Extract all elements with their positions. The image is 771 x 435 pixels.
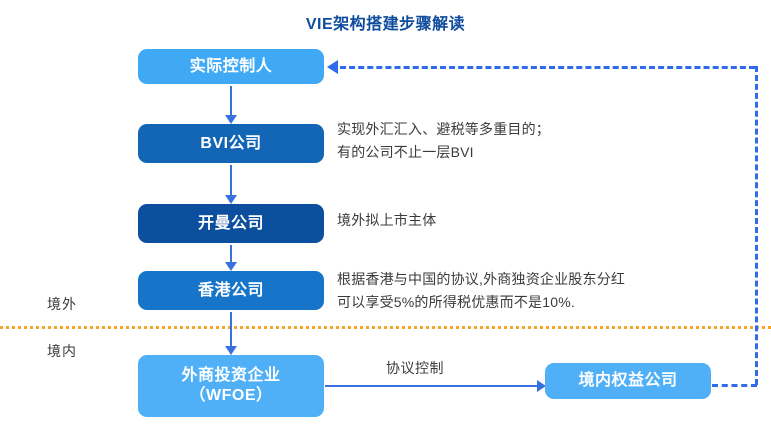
node-hongkong-company-label: 香港公司: [198, 281, 264, 301]
edge-label-agreement-control: 协议控制: [386, 358, 444, 378]
arrow-wfoe-to-domestic: [325, 385, 537, 387]
annotation-cayman: 境外拟上市主体: [337, 209, 436, 232]
region-label-offshore: 境外: [47, 294, 77, 314]
node-cayman-company[interactable]: 开曼公司: [138, 204, 324, 243]
arrow-controller-to-bvi: [230, 86, 232, 116]
annotation-hongkong-line1: 根据香港与中国的协议,外商独资企业股东分红: [337, 268, 625, 291]
node-wfoe[interactable]: 外商投资企业 （WFOE）: [138, 355, 324, 417]
annotation-hongkong-line2: 可以享受5%的所得税优惠而不是10%.: [337, 291, 625, 314]
node-actual-controller-label: 实际控制人: [190, 57, 273, 77]
arrow-bvi-to-cayman: [230, 165, 232, 196]
annotation-cayman-line1: 境外拟上市主体: [337, 209, 436, 232]
vie-structure-diagram: VIE架构搭建步骤解读 境外 境内 协议控制 实际控制人 BVI公司 开曼公司 …: [0, 0, 771, 435]
offshore-onshore-divider: [0, 326, 771, 329]
dashed-path-right: [755, 66, 758, 385]
arrow-hk-to-wfoe: [230, 312, 232, 347]
page-title: VIE架构搭建步骤解读: [0, 10, 771, 34]
dashed-path-bottom: [712, 384, 757, 387]
annotation-bvi: 实现外汇汇入、避税等多重目的； 有的公司不止一层BVI: [337, 118, 550, 164]
node-cayman-company-label: 开曼公司: [198, 214, 264, 234]
annotation-hongkong: 根据香港与中国的协议,外商独资企业股东分红 可以享受5%的所得税优惠而不是10%…: [337, 268, 625, 314]
node-domestic-equity-company[interactable]: 境内权益公司: [545, 363, 711, 399]
dashed-path-arrowhead-icon: [327, 60, 338, 74]
node-domestic-equity-company-label: 境内权益公司: [578, 371, 677, 391]
node-wfoe-label-line1: 外商投资企业: [181, 366, 280, 386]
dashed-path-top: [340, 66, 755, 69]
annotation-bvi-line2: 有的公司不止一层BVI: [337, 141, 550, 164]
annotation-bvi-line1: 实现外汇汇入、避税等多重目的；: [337, 118, 550, 141]
node-bvi-company-label: BVI公司: [200, 134, 261, 154]
node-bvi-company[interactable]: BVI公司: [138, 124, 324, 163]
node-wfoe-label-line2: （WFOE）: [190, 386, 273, 406]
arrow-cayman-to-hk: [230, 245, 232, 263]
node-hongkong-company[interactable]: 香港公司: [138, 271, 324, 310]
node-actual-controller[interactable]: 实际控制人: [138, 49, 324, 84]
region-label-onshore: 境内: [47, 341, 77, 361]
